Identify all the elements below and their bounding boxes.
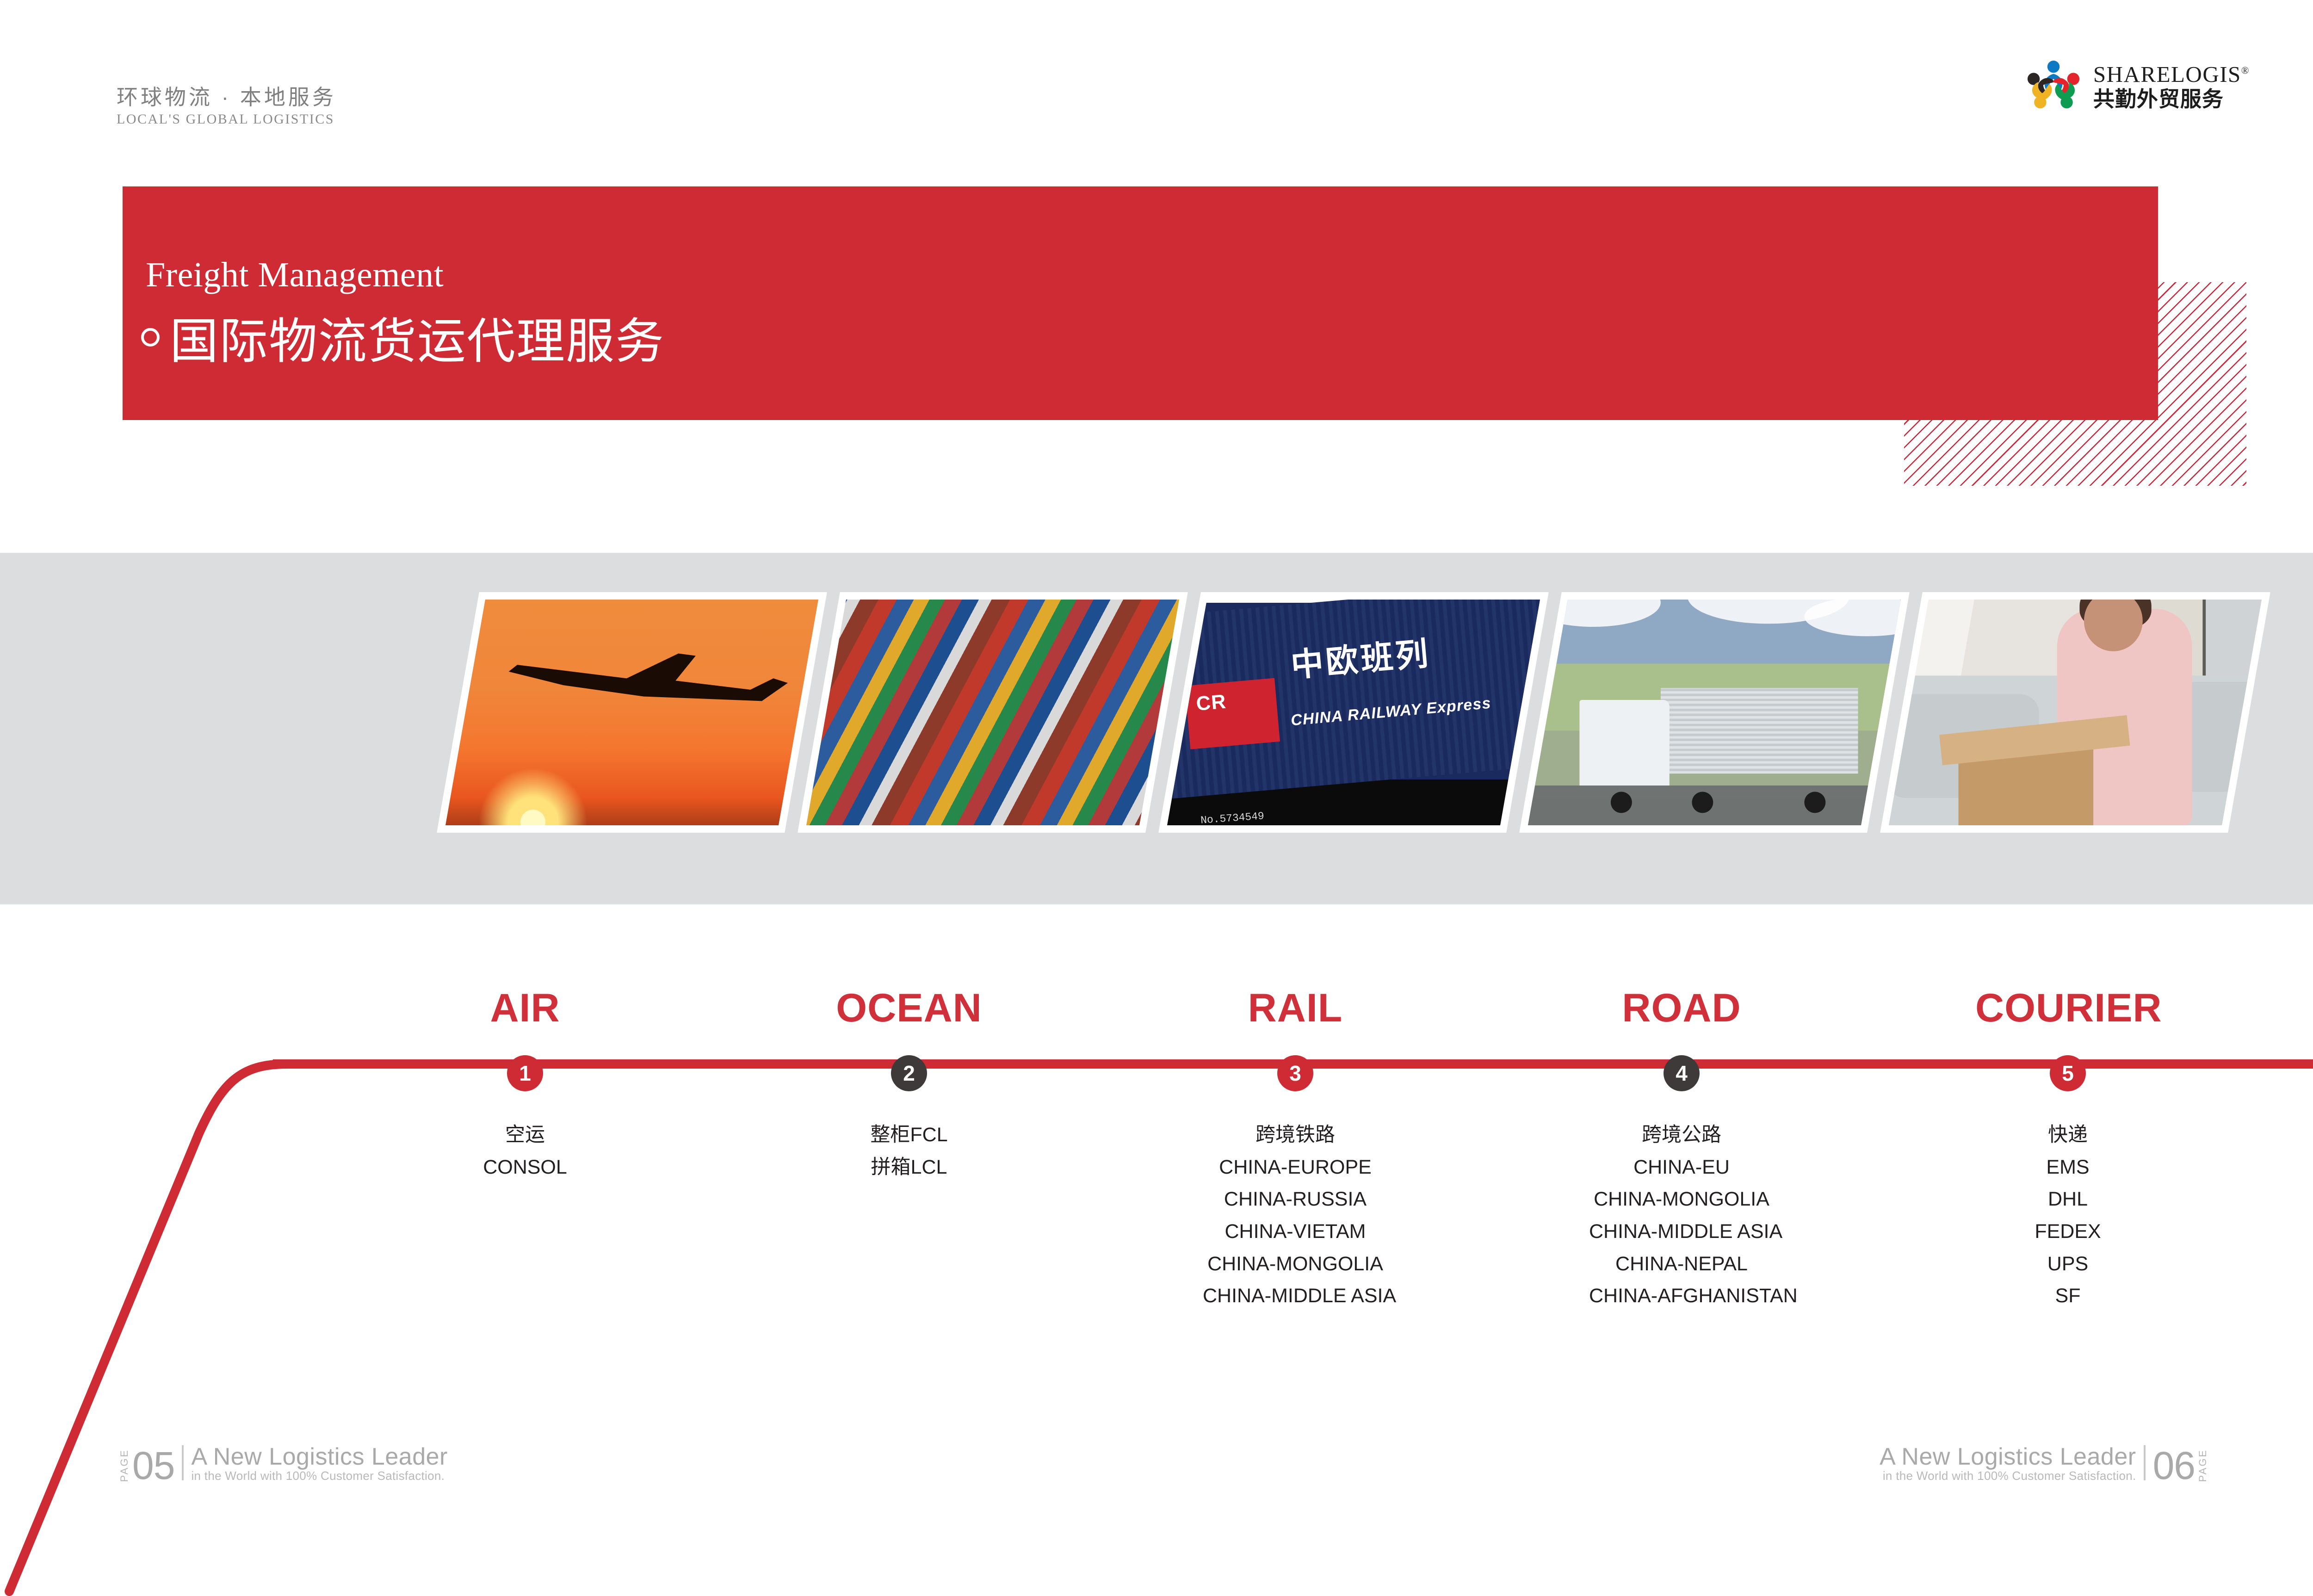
footer-right: A New Logistics Leader in the World with… bbox=[1880, 1444, 2208, 1482]
transport-photo-strip: CR 中欧班列 CHINA RAILWAY Express No.5734549 bbox=[0, 592, 2313, 842]
list-item: CHINA-VIETAM bbox=[1203, 1216, 1388, 1248]
list-item: FEDEX bbox=[1975, 1216, 2160, 1248]
timeline-column-rail[interactable]: RAIL 3 跨境铁路 CHINA-EUROPE CHINA-RUSSIA CH… bbox=[1203, 985, 1388, 1312]
list-item: CHINA-MIDDLE ASIA bbox=[1589, 1216, 1774, 1248]
list-item: UPS bbox=[1975, 1248, 2160, 1281]
timeline-node[interactable]: 3 bbox=[1277, 1055, 1313, 1091]
footer-slogan: A New Logistics Leader in the World with… bbox=[191, 1444, 447, 1482]
tagline-chinese: 环球物流 · 本地服务 bbox=[117, 86, 336, 109]
mode-title: OCEAN bbox=[816, 985, 1002, 1031]
divider bbox=[182, 1445, 184, 1480]
mode-title: AIR bbox=[433, 985, 618, 1031]
brand-tagline: 环球物流 · 本地服务 LOCAL'S GLOBAL LOGISTICS bbox=[117, 86, 336, 128]
road-freight-photo bbox=[1519, 592, 1910, 833]
list-item: CHINA-MONGOLIA bbox=[1203, 1248, 1388, 1281]
list-item: 空运 bbox=[433, 1119, 618, 1151]
ocean-freight-photo bbox=[798, 592, 1188, 833]
banner-english-title: Freight Management bbox=[146, 255, 444, 295]
container-serial: No.5734549 bbox=[1200, 811, 1265, 827]
list-item: 跨境公路 bbox=[1589, 1119, 1774, 1151]
page-label: PAGE bbox=[119, 1448, 130, 1482]
courier-photo bbox=[1880, 592, 2270, 833]
list-item: 整柜FCL bbox=[816, 1119, 1002, 1151]
timeline-detail-list: 跨境公路 CHINA-EU CHINA-MONGOLIA CHINA-MIDDL… bbox=[1589, 1119, 1774, 1312]
footer-slogan-line1: A New Logistics Leader bbox=[191, 1444, 447, 1470]
list-item: 拼箱LCL bbox=[816, 1151, 1002, 1184]
list-item: CONSOL bbox=[433, 1151, 618, 1184]
timeline-node[interactable]: 5 bbox=[2050, 1055, 2086, 1091]
page-number: 06 bbox=[2153, 1449, 2195, 1482]
page-label: PAGE bbox=[2198, 1448, 2208, 1482]
timeline-detail-list: 快递 EMS DHL FEDEX UPS SF bbox=[1975, 1119, 2160, 1312]
trademark-symbol: ® bbox=[2241, 64, 2250, 76]
list-item: CHINA-NEPAL bbox=[1589, 1248, 1774, 1281]
list-item: EMS bbox=[1975, 1151, 2160, 1184]
timeline-column-ocean[interactable]: OCEAN 2 整柜FCL 拼箱LCL bbox=[816, 985, 1002, 1183]
timeline-column-courier[interactable]: COURIER 5 快递 EMS DHL FEDEX UPS SF bbox=[1975, 985, 2160, 1312]
page-title-banner: Freight Management 国际物流货运代理服务 bbox=[123, 186, 2158, 420]
rail-freight-photo: CR 中欧班列 CHINA RAILWAY Express No.5734549 bbox=[1158, 592, 1549, 833]
timeline-detail-list: 整柜FCL 拼箱LCL bbox=[816, 1119, 1002, 1183]
banner-chinese-title-text: 国际物流货运代理服务 bbox=[170, 302, 665, 372]
list-item: CHINA-AFGHANISTAN bbox=[1589, 1280, 1774, 1312]
circle-bullet-icon bbox=[141, 328, 160, 346]
footer-slogan-line1: A New Logistics Leader bbox=[1880, 1444, 2136, 1470]
list-item: 快递 bbox=[1975, 1119, 2160, 1151]
timeline-detail-list: 空运 CONSOL bbox=[433, 1119, 618, 1183]
banner-chinese-title: 国际物流货运代理服务 bbox=[141, 302, 665, 372]
page-number: 05 bbox=[132, 1449, 174, 1482]
list-item: 跨境铁路 bbox=[1203, 1119, 1388, 1151]
mode-title: RAIL bbox=[1203, 985, 1388, 1031]
mode-title: COURIER bbox=[1975, 985, 2160, 1031]
list-item: CHINA-RUSSIA bbox=[1203, 1183, 1388, 1216]
timeline-node[interactable]: 1 bbox=[507, 1055, 543, 1091]
footer-slogan-line2: in the World with 100% Customer Satisfac… bbox=[191, 1470, 447, 1482]
timeline-node[interactable]: 4 bbox=[1664, 1055, 1700, 1091]
divider bbox=[2144, 1445, 2146, 1480]
timeline-column-road[interactable]: ROAD 4 跨境公路 CHINA-EU CHINA-MONGOLIA CHIN… bbox=[1589, 985, 1774, 1312]
logo-wordmark: SHARELOGIS® bbox=[2093, 63, 2250, 86]
mode-title: ROAD bbox=[1589, 985, 1774, 1031]
footer-slogan-line2: in the World with 100% Customer Satisfac… bbox=[1880, 1470, 2136, 1482]
timeline-red-curve bbox=[0, 995, 333, 1596]
timeline-column-air[interactable]: AIR 1 空运 CONSOL bbox=[433, 985, 618, 1183]
list-item: CHINA-MONGOLIA bbox=[1589, 1183, 1774, 1216]
list-item: CHINA-MIDDLE ASIA bbox=[1203, 1280, 1388, 1312]
logo-name-en: SHARELOGIS bbox=[2093, 62, 2241, 87]
list-item: SF bbox=[1975, 1280, 2160, 1312]
timeline-detail-list: 跨境铁路 CHINA-EUROPE CHINA-RUSSIA CHINA-VIE… bbox=[1203, 1119, 1388, 1312]
list-item: DHL bbox=[1975, 1183, 2160, 1216]
footer-slogan: A New Logistics Leader in the World with… bbox=[1880, 1444, 2136, 1482]
footer-left: PAGE 05 A New Logistics Leader in the Wo… bbox=[119, 1444, 448, 1482]
logo-name-cn: 共勤外贸服务 bbox=[2093, 88, 2250, 110]
company-logo: SHARELOGIS® 共勤外贸服务 bbox=[2023, 56, 2250, 117]
list-item: CHINA-EUROPE bbox=[1203, 1151, 1388, 1184]
timeline-node[interactable]: 2 bbox=[891, 1055, 927, 1091]
air-freight-photo bbox=[437, 592, 827, 833]
sharelogis-people-icon bbox=[2023, 56, 2084, 117]
list-item: CHINA-EU bbox=[1589, 1151, 1774, 1184]
tagline-english: LOCAL'S GLOBAL LOGISTICS bbox=[117, 111, 336, 128]
